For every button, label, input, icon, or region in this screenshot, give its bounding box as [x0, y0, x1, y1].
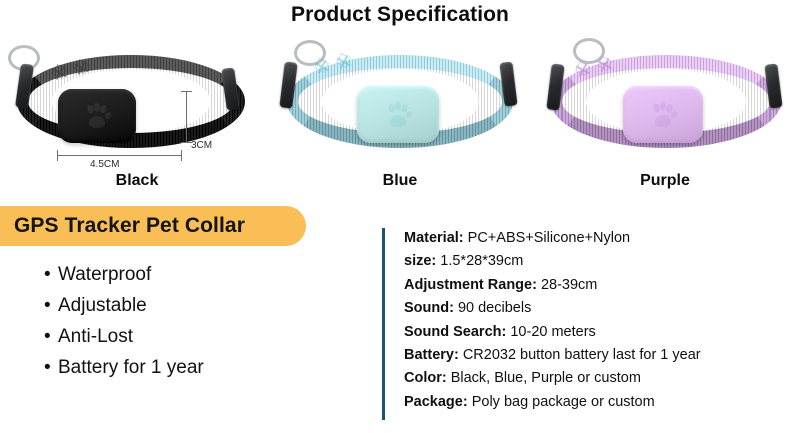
specification-value: 28-39cm: [537, 277, 597, 293]
page-title: Product Specification: [0, 3, 800, 27]
specification-key: Color:: [404, 370, 447, 386]
bullet-icon: •: [44, 352, 58, 383]
specification-row: Battery: CR2032 button battery last for …: [404, 344, 701, 367]
specification-key: size:: [404, 253, 436, 269]
specification-value: Black, Blue, Purple or custom: [447, 370, 641, 386]
bullet-icon: •: [44, 290, 58, 321]
color-label-purple: Purple: [605, 172, 725, 190]
specification-value: 1.5*28*39cm: [436, 253, 523, 269]
product-image-black: 3CM 4.5CM: [2, 28, 260, 178]
specification-row: Material: PC+ABS+Silicone+Nylon: [404, 227, 701, 250]
specification-row: Sound: 90 decibels: [404, 297, 701, 320]
feature-item-label: Adjustable: [58, 295, 147, 316]
feature-item: •Anti-Lost: [44, 321, 204, 352]
feature-item-label: Anti-Lost: [58, 326, 133, 347]
specification-key: Material:: [404, 230, 464, 246]
paw-print-icon: [80, 99, 114, 133]
feature-item-label: Battery for 1 year: [58, 357, 204, 378]
collar-black: 3CM 4.5CM: [2, 28, 260, 178]
spec-accent-rule: [382, 228, 385, 420]
specification-key: Battery:: [404, 347, 459, 363]
color-label-blue: Blue: [340, 172, 460, 190]
dimension-tick-right: [181, 150, 182, 161]
gps-tracker-module: [623, 86, 703, 143]
headline-banner: GPS Tracker Pet Collar: [0, 206, 306, 246]
specification-key: Sound Search:: [404, 324, 506, 340]
gps-tracker-module: [58, 89, 136, 143]
specification-row: size: 1.5*28*39cm: [404, 250, 701, 273]
gps-tracker-module: [357, 86, 439, 143]
specification-row: Sound Search: 10-20 meters: [404, 321, 701, 344]
specification-value: 10-20 meters: [506, 324, 595, 340]
specification-value: Poly bag package or custom: [468, 394, 655, 410]
paw-print-icon: [646, 98, 680, 132]
specification-value: PC+ABS+Silicone+Nylon: [464, 230, 630, 246]
specification-row: Adjustment Range: 28-39cm: [404, 274, 701, 297]
specification-key: Package:: [404, 394, 468, 410]
feature-item-label: Waterproof: [58, 264, 151, 285]
dimension-label-height: 3CM: [191, 140, 212, 151]
feature-item: •Adjustable: [44, 290, 204, 321]
bullet-icon: •: [44, 259, 58, 290]
specification-key: Adjustment Range:: [404, 277, 537, 293]
dimension-label-width: 4.5CM: [90, 159, 119, 170]
feature-item: •Battery for 1 year: [44, 352, 204, 383]
color-label-black: Black: [77, 172, 197, 190]
specification-value: 90 decibels: [454, 300, 531, 316]
headline-text: GPS Tracker Pet Collar: [0, 214, 245, 238]
dimension-tick-left: [57, 150, 58, 161]
bullet-icon: •: [44, 321, 58, 352]
feature-list: •Waterproof•Adjustable•Anti-Lost•Battery…: [44, 259, 204, 383]
dimension-line-height: [186, 91, 187, 143]
product-image-blue: [272, 28, 528, 178]
collar-purple: [535, 28, 797, 178]
dimension-tick-top: [181, 91, 192, 92]
paw-print-icon: [381, 98, 415, 132]
feature-item: •Waterproof: [44, 259, 204, 290]
specification-row: Package: Poly bag package or custom: [404, 391, 701, 414]
specification-key: Sound:: [404, 300, 454, 316]
collar-blue: [272, 28, 528, 178]
specification-row: Color: Black, Blue, Purple or custom: [404, 367, 701, 390]
product-image-purple: [535, 28, 797, 178]
specification-value: CR2032 button battery last for 1 year: [459, 347, 701, 363]
dimension-line-width: [57, 155, 182, 156]
specification-list: Material: PC+ABS+Silicone+Nylonsize: 1.5…: [404, 227, 701, 414]
